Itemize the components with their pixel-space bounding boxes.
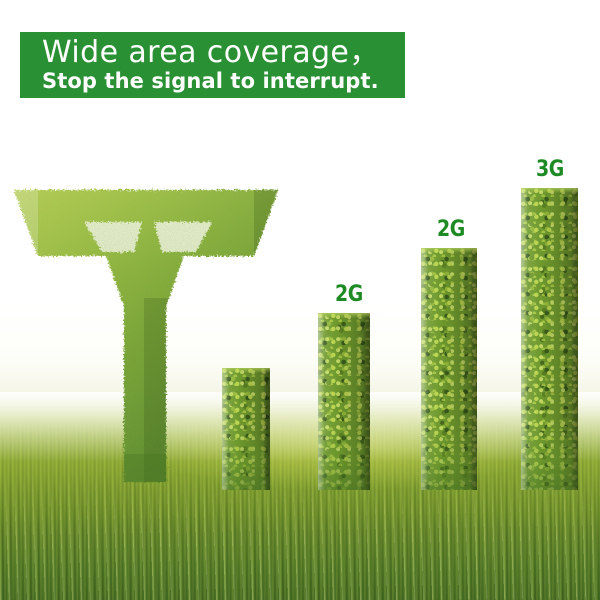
signal-bar-3 — [421, 248, 477, 490]
bar-top-highlight — [521, 188, 578, 193]
banner-title: Wide area coverage， — [42, 36, 405, 70]
bar-left-highlight — [318, 313, 325, 490]
bar-right-shadow — [363, 313, 370, 490]
headline-banner: Wide area coverage， Stop the signal to i… — [20, 32, 405, 98]
bar-top-highlight — [318, 313, 370, 318]
bar-base-fade — [521, 426, 578, 490]
bar-label-4: 3G — [536, 159, 564, 181]
bar-right-shadow — [571, 188, 578, 490]
poster-canvas: 2G 2G 3G — [0, 0, 600, 600]
bar-left-highlight — [421, 248, 428, 490]
antenna-tower-topiary — [8, 178, 284, 494]
bar-top-highlight — [421, 248, 477, 253]
bar-right-shadow — [470, 248, 477, 490]
bar-label-2: 2G — [335, 284, 363, 306]
signal-bar-2 — [318, 313, 370, 490]
bar-base-fade — [421, 426, 477, 490]
banner-subtitle: Stop the signal to interrupt. — [42, 68, 405, 94]
bar-left-highlight — [521, 188, 528, 490]
bar-label-3: 2G — [437, 219, 465, 241]
signal-bar-4 — [521, 188, 578, 490]
